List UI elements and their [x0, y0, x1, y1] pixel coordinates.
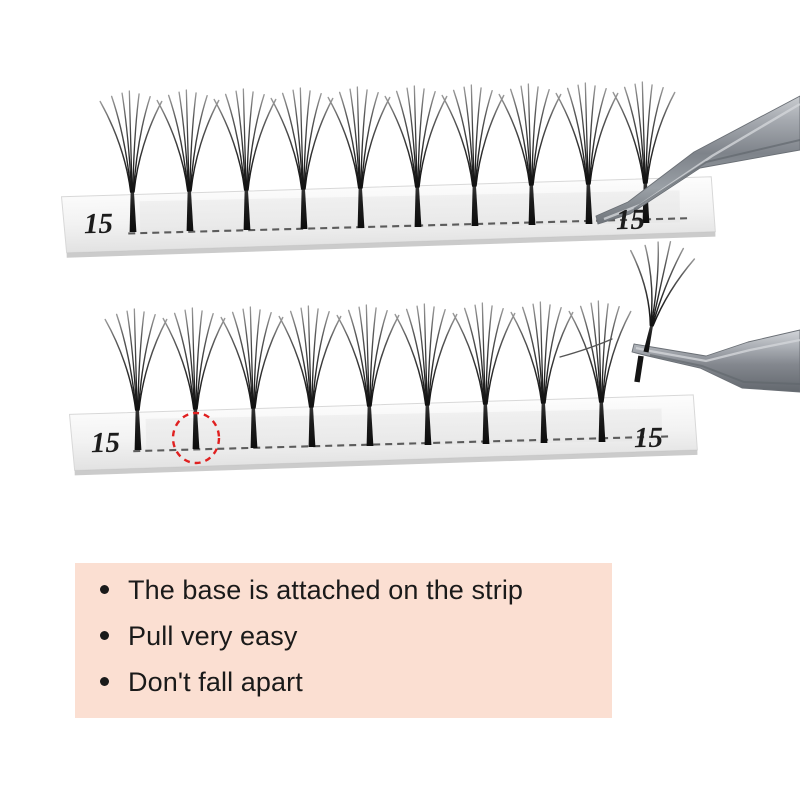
strip-bottom-right-size-label: 15 [634, 422, 664, 456]
bullet-text: The base is attached on the strip [128, 577, 523, 604]
product-image-canvas: 15 15 15 15 The base is attached on the … [0, 0, 800, 800]
bullet-text: Pull very easy [128, 623, 297, 650]
bullet-dot-icon [100, 585, 109, 594]
feature-bullet-panel: The base is attached on the strip Pull v… [75, 563, 612, 718]
bullet-dot-icon [100, 677, 109, 686]
bullet-text: Don't fall apart [128, 669, 303, 696]
strip-top-left-size-label: 15 [84, 208, 114, 242]
list-item: Don't fall apart [75, 669, 612, 715]
list-item: The base is attached on the strip [75, 577, 612, 623]
bullet-dot-icon [100, 631, 109, 640]
list-item: Pull very easy [75, 623, 612, 669]
strip-bottom-left-size-label: 15 [91, 427, 121, 461]
strip-bottom-group [69, 300, 697, 475]
strip-top-right-size-label: 15 [616, 204, 646, 238]
held-lash-fan [611, 234, 697, 358]
